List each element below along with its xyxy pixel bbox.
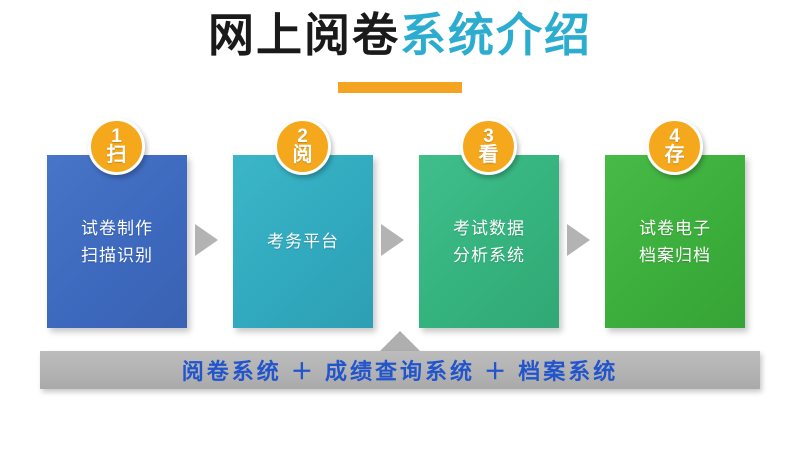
flow-step-3-line1: 考试数据: [453, 215, 525, 242]
step-badge-1-keyword: 扫: [107, 145, 127, 166]
step-badge-1-number: 1: [111, 128, 122, 145]
flow-step-4-line1: 试卷电子: [639, 215, 711, 242]
step-badge-2: 2 阅: [274, 118, 331, 175]
step-badge-1: 1 扫: [88, 118, 145, 175]
step-badge-2-number: 2: [297, 128, 308, 145]
flow-step-1-line2: 扫描识别: [81, 242, 153, 269]
step-badge-4-keyword: 存: [665, 145, 685, 166]
summary-bar-text: 阅卷系统 ＋ 成绩查询系统 ＋ 档案系统: [182, 354, 618, 386]
flow-step-3-line2: 分析系统: [453, 242, 525, 269]
step-badge-3: 3 看: [460, 118, 517, 175]
step-badge-4-number: 4: [669, 128, 680, 145]
page-title-main: 网上阅卷: [208, 9, 400, 61]
bottom-caption-clipped: 。。。。。。。。: [0, 446, 800, 450]
arrow-right-icon-3: [567, 224, 590, 256]
step-badge-4: 4 存: [646, 118, 703, 175]
title-underline-bar: [338, 82, 462, 93]
flow-step-box-1[interactable]: 试卷制作 扫描识别: [47, 155, 187, 328]
flow-step-2-line1: 考务平台: [267, 228, 339, 255]
step-badge-3-number: 3: [483, 128, 494, 145]
flow-step-4-line2: 档案归档: [639, 242, 711, 269]
flow-step-box-2[interactable]: 考务平台: [233, 155, 373, 328]
triangle-up-icon: [378, 331, 422, 353]
bottom-caption-text: 。。。。。。。。: [0, 446, 800, 450]
step-badge-3-keyword: 看: [479, 145, 499, 166]
summary-bar: 阅卷系统 ＋ 成绩查询系统 ＋ 档案系统: [40, 351, 760, 389]
page-title: 网上阅卷系统介绍: [0, 0, 800, 70]
step-badge-2-keyword: 阅: [293, 145, 313, 166]
page-title-accent: 系统介绍: [400, 9, 592, 61]
arrow-right-icon-1: [195, 224, 218, 256]
flow-step-box-3[interactable]: 考试数据 分析系统: [419, 155, 559, 328]
flow-step-box-4[interactable]: 试卷电子 档案归档: [605, 155, 745, 328]
flow-step-1-line1: 试卷制作: [81, 215, 153, 242]
arrow-right-icon-2: [381, 224, 404, 256]
